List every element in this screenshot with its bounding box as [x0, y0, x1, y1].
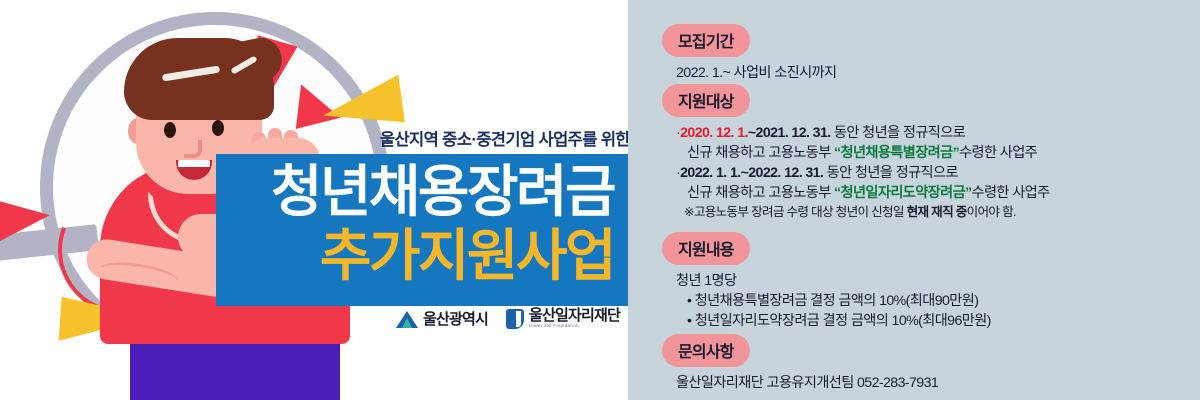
target-date-end-1: ~2021. 12. 31. — [748, 125, 831, 141]
logo-ulsan-city: 울산광역시 — [396, 308, 488, 329]
target-line-2: 신규 채용하고 고용노동부 “청년채용특별장려금”수령한 사업주 — [676, 143, 1050, 163]
page-title-line-1: 청년채용장려금 — [271, 164, 614, 220]
content-line-header: 청년 1명당 — [676, 271, 991, 291]
target-line-4: 신규 채용하고 고용노동부 “청년일자리도약장려금”수령한 사업주 — [676, 183, 1050, 203]
target-program-name-1: “청년채용특별장려금” — [834, 145, 959, 161]
promotional-banner: 울산지역 중소·중견기업 사업주를 위한 청년채용장려금 추가지원사업 울산광역… — [0, 0, 1200, 400]
target-note-line: ※고용노동부 장려금 수령 대상 청년이 신청일 현재 재직 중이어야 함. — [684, 204, 1050, 222]
content-line-1: • 청년채용특별장려금 결정 금액의 10%(최대90만원) — [676, 291, 991, 311]
content-line-2: • 청년일자리도약장려금 결정 금액의 10%(최대96만원) — [676, 311, 991, 331]
person-eye-right — [212, 120, 224, 136]
information-panel: 모집기간 2022. 1.~ 사업비 소진시까지 지원대상 ·2020. 12.… — [628, 0, 1200, 400]
content-text-2: 청년일자리도약장려금 결정 금액의 10%(최대96만원) — [695, 313, 991, 329]
content-text-1: 청년채용특별장려금 결정 금액의 10%(최대90만원) — [695, 293, 979, 309]
section-body-support-target: ·2020. 12. 1.~2021. 12. 31. 동안 청년을 정규직으로… — [676, 123, 1050, 222]
target-note-emphasis: 현재 재직 중 — [907, 205, 967, 219]
target-note-text-a: ※고용노동부 장려금 수령 대상 청년이 신청일 — [684, 205, 907, 219]
section-badge-recruitment-period: 모집기간 — [662, 24, 750, 57]
target-text-4b: 수령한 사업주 — [972, 185, 1050, 201]
period-line: 2022. 1.~ 사업비 소진시까지 — [676, 63, 836, 83]
title-panel: 청년채용장려금 추가지원사업 — [216, 154, 628, 306]
section-support-content: 지원내용 청년 1명당 • 청년채용특별장려금 결정 금액의 10%(최대90만… — [662, 232, 991, 331]
section-badge-support-target: 지원대상 — [662, 84, 750, 117]
logo-foundation-text-group: 울산일자리재단 Ulsan Job Foundation — [529, 308, 620, 329]
target-note-text-b: 이어야 함. — [967, 205, 1016, 219]
section-recruitment-period: 모집기간 2022. 1.~ 사업비 소진시까지 — [662, 24, 836, 83]
confetti-red-triangle-3 — [0, 193, 52, 243]
banner-subtitle: 울산지역 중소·중견기업 사업주를 위한 — [296, 126, 628, 150]
target-text-1: 동안 청년을 정규직으로 — [831, 125, 966, 141]
person-teeth — [178, 160, 210, 167]
logo-foundation-sublabel: Ulsan Job Foundation — [529, 324, 620, 329]
target-text-2a: 신규 채용하고 고용노동부 — [687, 145, 834, 161]
section-body-inquiry: 울산일자리재단 고용유지개선팀 052-283-7931 — [676, 373, 938, 393]
target-text-3: 동안 청년을 정규직으로 — [823, 165, 958, 181]
section-badge-support-content: 지원내용 — [662, 232, 750, 265]
person-nose — [184, 140, 202, 158]
target-text-2b: 수령한 사업주 — [959, 145, 1037, 161]
page-title-line-2: 추가지원사업 — [320, 228, 614, 284]
ulsan-job-foundation-mark-icon — [506, 309, 524, 329]
content-bullet-1: • — [687, 293, 691, 309]
logo-foundation-label: 울산일자리재단 — [529, 308, 620, 323]
target-line-1: ·2020. 12. 1.~2021. 12. 31. 동안 청년을 정규직으로 — [676, 123, 1050, 143]
inquiry-contact-line: 울산일자리재단 고용유지개선팀 052-283-7931 — [676, 373, 938, 393]
section-inquiry: 문의사항 울산일자리재단 고용유지개선팀 052-283-7931 — [662, 334, 938, 393]
logo-group: 울산광역시 울산일자리재단 Ulsan Job Foundation — [396, 308, 620, 329]
section-body-recruitment-period: 2022. 1.~ 사업비 소진시까지 — [676, 63, 836, 83]
logo-ulsan-city-label: 울산광역시 — [423, 308, 488, 329]
target-line-3: ·2022. 1. 1.~2022. 12. 31. 동안 청년을 정규직으로 — [676, 163, 1050, 183]
target-program-name-2: “청년일자리도약장려금” — [834, 185, 972, 201]
ulsan-city-mountain-icon — [396, 310, 418, 328]
target-date-range-2: 2022. 1. 1.~2022. 12. 31. — [680, 165, 823, 181]
illustration-panel: 울산지역 중소·중견기업 사업주를 위한 청년채용장려금 추가지원사업 울산광역… — [0, 0, 628, 400]
section-body-support-content: 청년 1명당 • 청년채용특별장려금 결정 금액의 10%(최대90만원) • … — [676, 271, 991, 331]
person-eye-left — [164, 122, 176, 138]
section-badge-inquiry: 문의사항 — [662, 334, 750, 367]
content-bullet-2: • — [687, 313, 691, 329]
target-date-start-1: 2020. 12. 1. — [680, 125, 748, 141]
section-support-target: 지원대상 ·2020. 12. 1.~2021. 12. 31. 동안 청년을 … — [662, 84, 1050, 222]
logo-ulsan-job-foundation: 울산일자리재단 Ulsan Job Foundation — [506, 308, 620, 329]
target-text-4a: 신규 채용하고 고용노동부 — [687, 185, 834, 201]
